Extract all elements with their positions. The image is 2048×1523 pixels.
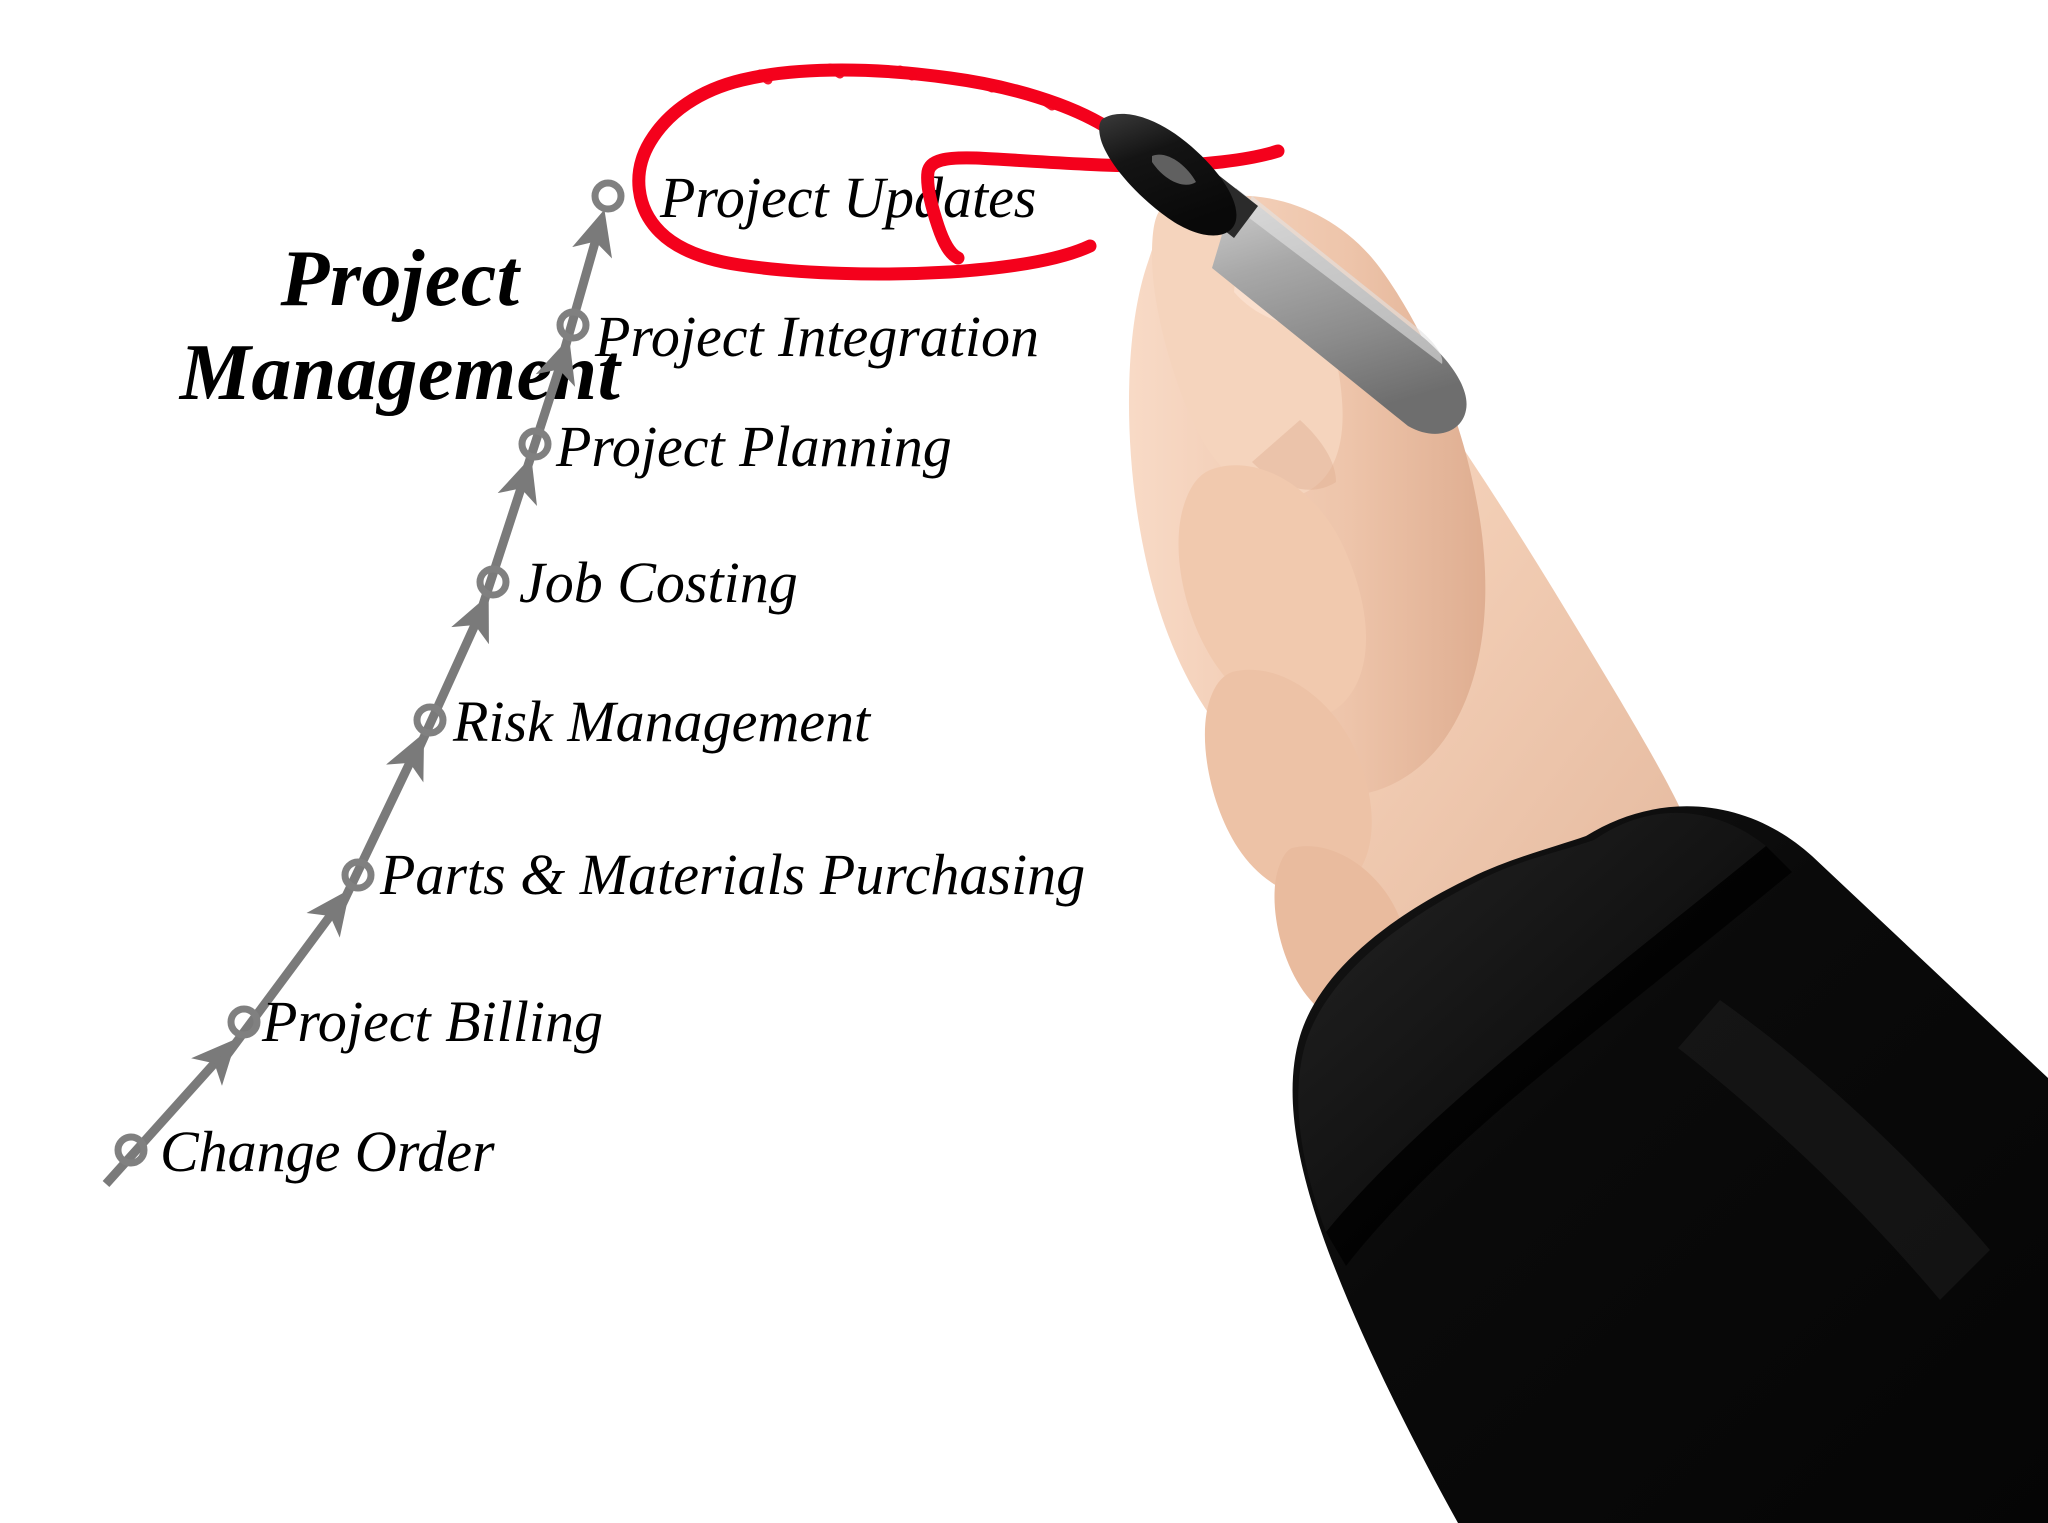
- step-label-change-order[interactable]: Change Order: [160, 1123, 495, 1181]
- step-label-job-costing[interactable]: Job Costing: [519, 554, 798, 612]
- marker-collar: [1170, 156, 1258, 238]
- step-label-risk-management[interactable]: Risk Management: [453, 693, 870, 751]
- suit-cuff-fold: [1298, 813, 1766, 1232]
- step-node-8[interactable]: [595, 183, 621, 209]
- marker-tip-glint: [1152, 155, 1196, 185]
- suit-sleeve: [1293, 806, 2048, 1523]
- knuckle-highlight: [1234, 265, 1330, 325]
- little-finger: [1274, 846, 1410, 1029]
- step-node-4[interactable]: [417, 707, 443, 733]
- step-label-parts-materials-purchasing[interactable]: Parts & Materials Purchasing: [380, 846, 1085, 904]
- step-label-project-integration[interactable]: Project Integration: [595, 308, 1039, 366]
- step-node-2[interactable]: [231, 1009, 257, 1035]
- step-node-6[interactable]: [522, 431, 548, 457]
- step-label-project-billing[interactable]: Project Billing: [262, 993, 603, 1051]
- sleeve-sheen: [1678, 1000, 1990, 1300]
- suit-cuff-edge: [1326, 846, 1792, 1266]
- marker-tip: [1099, 114, 1236, 236]
- connector-arrow-5: [479, 479, 524, 617]
- marker-barrel-highlight: [1244, 196, 1442, 364]
- step-label-project-planning[interactable]: Project Planning: [556, 418, 952, 476]
- step-node-5[interactable]: [480, 569, 506, 595]
- step-node-3[interactable]: [345, 862, 371, 888]
- index-finger-shadow: [1252, 420, 1336, 490]
- step-label-project-updates[interactable]: Project Updates: [660, 169, 1036, 227]
- hand-back: [1129, 196, 1485, 797]
- step-node-1[interactable]: [118, 1137, 144, 1163]
- middle-finger: [1179, 465, 1367, 719]
- forearm: [1177, 318, 1700, 1010]
- index-finger: [1152, 197, 1343, 498]
- whiteboard-canvas: Project Management: [0, 0, 2048, 1523]
- highlight-texture-path: [760, 68, 1052, 106]
- ring-finger: [1205, 670, 1372, 897]
- marker-barrel: [1212, 188, 1467, 434]
